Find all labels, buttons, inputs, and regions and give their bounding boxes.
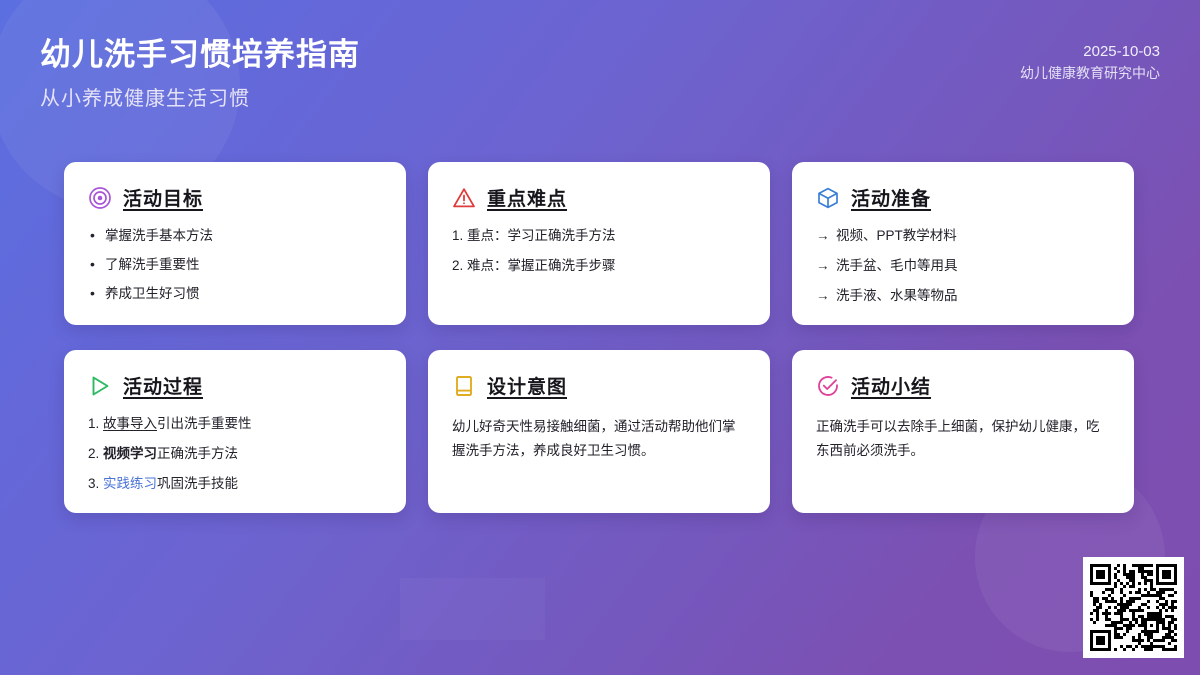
card-body: 幼儿好奇天性易接触细菌，通过活动帮助他们掌握洗手方法，养成良好卫生习惯。 xyxy=(452,415,746,462)
target-icon xyxy=(88,186,112,210)
page-subtitle: 从小养成健康生活习惯 xyxy=(40,82,360,111)
list-item: 故事导入引出洗手重要性 xyxy=(88,415,382,433)
list-item: 洗手液、水果等物品 xyxy=(816,287,1110,305)
card-header: 活动小结 xyxy=(816,372,1110,399)
header-meta-block: 2025-10-03 幼儿健康教育研究中心 xyxy=(1020,30,1160,85)
box-icon xyxy=(816,186,840,210)
process-list: 故事导入引出洗手重要性 视频学习正确洗手方法 实践练习巩固洗手技能 xyxy=(88,415,382,494)
qr-code-container[interactable] xyxy=(1083,557,1184,658)
card-body: 故事导入引出洗手重要性 视频学习正确洗手方法 实践练习巩固洗手技能 xyxy=(88,415,382,494)
card-header: 活动目标 xyxy=(88,184,382,211)
list-item: 视频、PPT教学材料 xyxy=(816,227,1110,245)
play-icon xyxy=(88,374,112,398)
header-organization: 幼儿健康教育研究中心 xyxy=(1020,63,1160,85)
list-item-rest: 巩固洗手技能 xyxy=(157,476,238,491)
design-intent-text: 幼儿好奇天性易接触细菌，通过活动帮助他们掌握洗手方法，养成良好卫生习惯。 xyxy=(452,415,746,462)
card-summary[interactable]: 活动小结 正确洗手可以去除手上细菌，保护幼儿健康，吃东西前必须洗手。 xyxy=(792,350,1134,513)
header-title-block: 幼儿洗手习惯培养指南 从小养成健康生活习惯 xyxy=(40,30,360,111)
card-header: 重点难点 xyxy=(452,184,746,211)
card-grid: 活动目标 掌握洗手基本方法 了解洗手重要性 养成卫生好习惯 xyxy=(64,162,1136,513)
card-body: 正确洗手可以去除手上细菌，保护幼儿健康，吃东西前必须洗手。 xyxy=(816,415,1110,462)
card-design-intent[interactable]: 设计意图 幼儿好奇天性易接触细菌，通过活动帮助他们掌握洗手方法，养成良好卫生习惯… xyxy=(428,350,770,513)
list-item-emphasis: 视频学习 xyxy=(103,446,157,461)
slide-root: 幼儿洗手习惯培养指南 从小养成健康生活习惯 2025-10-03 幼儿健康教育研… xyxy=(0,0,1200,675)
list-item-emphasis: 故事导入 xyxy=(103,416,157,431)
card-header: 活动过程 xyxy=(88,372,382,399)
card-objectives[interactable]: 活动目标 掌握洗手基本方法 了解洗手重要性 养成卫生好习惯 xyxy=(64,162,406,325)
card-body: 视频、PPT教学材料 洗手盆、毛巾等用具 洗手液、水果等物品 xyxy=(816,227,1110,306)
list-item: 难点：掌握正确洗手步骤 xyxy=(452,257,746,275)
card-title: 活动小结 xyxy=(851,372,931,399)
card-title: 活动准备 xyxy=(851,184,931,211)
card-title: 重点难点 xyxy=(487,184,567,211)
card-body: 掌握洗手基本方法 了解洗手重要性 养成卫生好习惯 xyxy=(88,227,382,304)
list-item: 养成卫生好习惯 xyxy=(88,285,382,303)
card-body: 重点：学习正确洗手方法 难点：掌握正确洗手步骤 xyxy=(452,227,746,275)
list-item: 掌握洗手基本方法 xyxy=(88,227,382,245)
list-item-rest: 正确洗手方法 xyxy=(157,446,238,461)
card-title: 活动目标 xyxy=(123,184,203,211)
book-icon xyxy=(452,374,476,398)
key-points-list: 重点：学习正确洗手方法 难点：掌握正确洗手步骤 xyxy=(452,227,746,275)
card-title: 活动过程 xyxy=(123,372,203,399)
list-item: 了解洗手重要性 xyxy=(88,256,382,274)
card-key-points[interactable]: 重点难点 重点：学习正确洗手方法 难点：掌握正确洗手步骤 xyxy=(428,162,770,325)
card-header: 活动准备 xyxy=(816,184,1110,211)
card-preparation[interactable]: 活动准备 视频、PPT教学材料 洗手盆、毛巾等用具 洗手液、水果等物品 xyxy=(792,162,1134,325)
list-item: 洗手盆、毛巾等用具 xyxy=(816,257,1110,275)
warning-triangle-icon xyxy=(452,186,476,210)
summary-text: 正确洗手可以去除手上细菌，保护幼儿健康，吃东西前必须洗手。 xyxy=(816,415,1110,462)
list-item: 重点：学习正确洗手方法 xyxy=(452,227,746,245)
card-header: 设计意图 xyxy=(452,372,746,399)
decor-rectangle xyxy=(400,578,545,640)
preparation-list: 视频、PPT教学材料 洗手盆、毛巾等用具 洗手液、水果等物品 xyxy=(816,227,1110,306)
card-process[interactable]: 活动过程 故事导入引出洗手重要性 视频学习正确洗手方法 实践练习巩固洗手技能 xyxy=(64,350,406,513)
check-circle-icon xyxy=(816,374,840,398)
header-date: 2025-10-03 xyxy=(1020,40,1160,63)
list-item-rest: 引出洗手重要性 xyxy=(157,416,252,431)
objectives-list: 掌握洗手基本方法 了解洗手重要性 养成卫生好习惯 xyxy=(88,227,382,304)
qr-code xyxy=(1090,564,1177,651)
page-title: 幼儿洗手习惯培养指南 xyxy=(40,36,360,75)
list-item-emphasis[interactable]: 实践练习 xyxy=(103,476,157,491)
card-title: 设计意图 xyxy=(487,372,567,399)
list-item: 视频学习正确洗手方法 xyxy=(88,445,382,463)
slide-header: 幼儿洗手习惯培养指南 从小养成健康生活习惯 2025-10-03 幼儿健康教育研… xyxy=(0,0,1200,140)
list-item: 实践练习巩固洗手技能 xyxy=(88,475,382,493)
